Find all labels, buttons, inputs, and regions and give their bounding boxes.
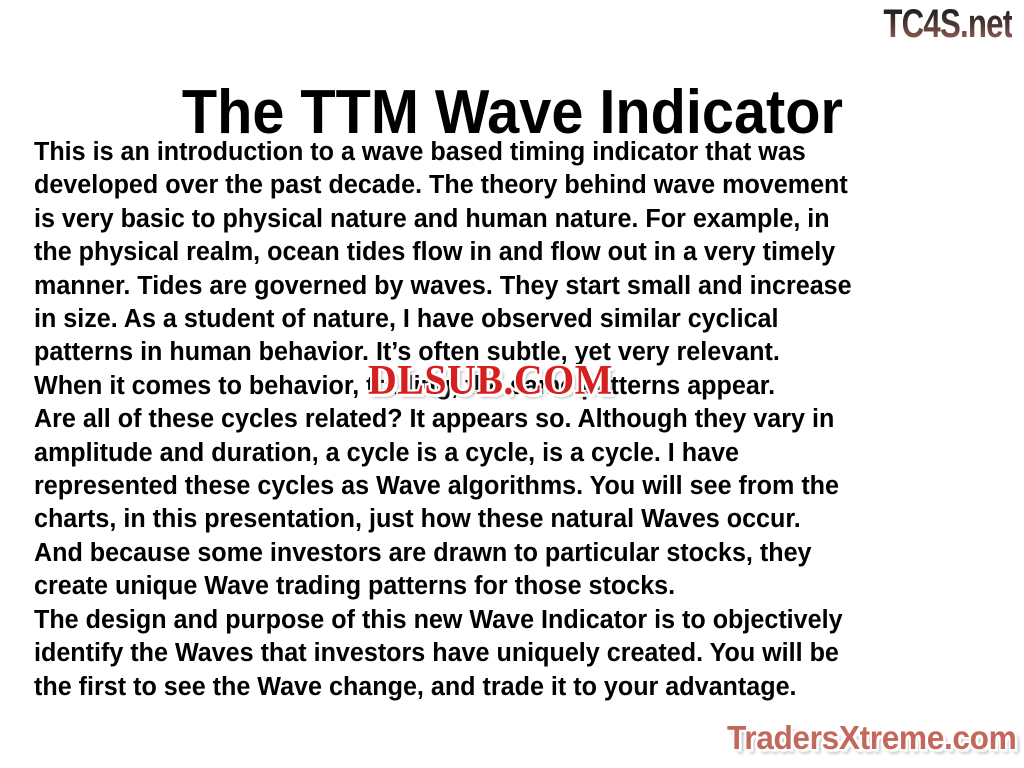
body-line: amplitude and duration, a cycle is a cyc… (34, 437, 980, 470)
body-copy: This is an introduction to a wave based … (34, 136, 994, 704)
body-line: create unique Wave trading patterns for … (34, 570, 980, 603)
body-line: And because some investors are drawn to … (34, 537, 980, 570)
body-line: The design and purpose of this new Wave … (34, 604, 980, 637)
body-line: charts, in this presentation, just how t… (34, 503, 980, 536)
paragraph-2: The design and purpose of this new Wave … (34, 604, 994, 704)
body-line: the first to see the Wave change, and tr… (34, 671, 980, 704)
body-line: manner. Tides are governed by waves. The… (34, 270, 980, 303)
body-line: This is an introduction to a wave based … (34, 136, 980, 169)
body-line: the physical realm, ocean tides flow in … (34, 236, 980, 269)
body-line: developed over the past decade. The theo… (34, 169, 980, 202)
body-line: represented these cycles as Wave algorit… (34, 470, 980, 503)
body-line: identify the Waves that investors have u… (34, 637, 980, 670)
body-line: Are all of these cycles related? It appe… (34, 403, 980, 436)
tradersxtreme-brand-logo: TradersXtreme.com (727, 720, 1016, 756)
slide-canvas: TC4S.net The TTM Wave Indicator This is … (0, 0, 1024, 768)
body-line: is very basic to physical nature and hum… (34, 203, 980, 236)
body-line: in size. As a student of nature, I have … (34, 303, 980, 336)
tc4s-brand-logo: TC4S.net (883, 2, 1012, 46)
dlsub-watermark: DLSUB.COM (368, 360, 613, 402)
